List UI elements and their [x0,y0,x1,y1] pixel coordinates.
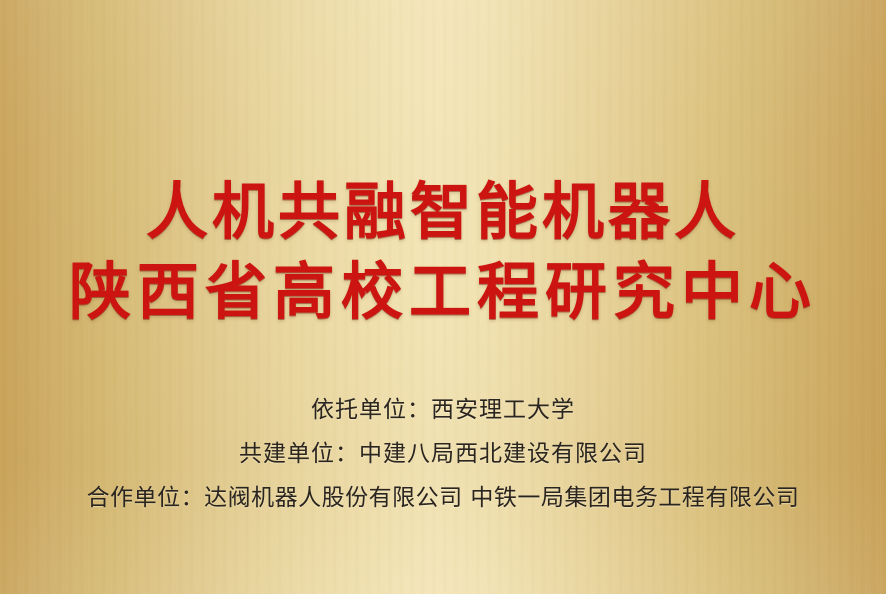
award-plaque: 人机共融智能机器人 陕西省高校工程研究中心 依托单位：西安理工大学 共建单位：中… [0,0,886,594]
partner-units-line: 合作单位：达阀机器人股份有限公司 中铁一局集团电务工程有限公司 [0,476,886,520]
plaque-content: 人机共融智能机器人 陕西省高校工程研究中心 依托单位：西安理工大学 共建单位：中… [0,0,886,594]
plaque-subtitles: 依托单位：西安理工大学 共建单位：中建八局西北建设有限公司 合作单位：达阀机器人… [0,388,886,520]
plaque-title: 人机共融智能机器人 陕西省高校工程研究中心 [0,172,886,332]
host-institution-line: 依托单位：西安理工大学 [0,388,886,432]
title-line-2: 陕西省高校工程研究中心 [0,252,886,332]
title-line-1: 人机共融智能机器人 [0,172,886,252]
co-construction-unit-line: 共建单位：中建八局西北建设有限公司 [0,432,886,476]
